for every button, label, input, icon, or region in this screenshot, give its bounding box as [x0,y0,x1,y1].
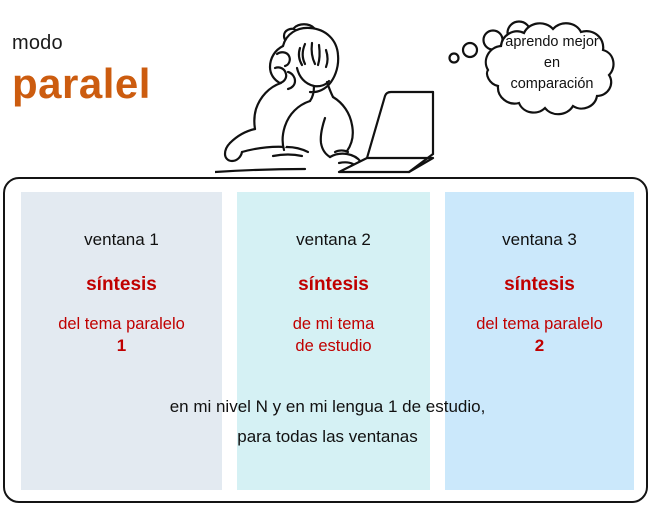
thought-bubble-line-2: en [472,53,632,74]
window-label-3: ventana 3 [445,230,634,250]
header-area: modo paralel [0,0,657,177]
synthesis-heading-3: síntesis [445,274,634,297]
windows-columns: ventana 1 síntesis del tema paralelo 1 v… [21,192,634,490]
window-label-1: ventana 1 [21,230,222,250]
synthesis-heading-1: síntesis [21,274,222,297]
synthesis-heading-2: síntesis [237,274,430,297]
parallel-mode-panel: ventana 1 síntesis del tema paralelo 1 v… [3,177,648,503]
person-studying-at-laptop-icon [215,6,435,181]
synthesis-desc-2-line-2: de estudio [237,335,430,357]
title-block: modo paralel [12,32,212,106]
thought-bubble-line-3: comparación [472,74,632,95]
synthesis-desc-3-line-1: del tema paralelo [445,313,634,335]
mode-name-label: paralel [12,62,212,106]
window-column-2[interactable]: ventana 2 síntesis de mi tema de estudio [237,192,430,490]
synthesis-desc-1-line-1: del tema paralelo [21,313,222,335]
mode-word-label: modo [12,32,212,54]
window-column-3[interactable]: ventana 3 síntesis del tema paralelo 2 [445,192,634,490]
synthesis-desc-2-line-1: de mi tema [237,313,430,335]
window-column-1[interactable]: ventana 1 síntesis del tema paralelo 1 [21,192,222,490]
window-label-2: ventana 2 [237,230,430,250]
thought-bubble-text: aprendo mejor en comparación [472,32,632,95]
synthesis-desc-3-line-2: 2 [445,335,634,358]
thought-bubble-line-1: aprendo mejor [472,32,632,53]
synthesis-desc-1-line-2: 1 [21,335,222,358]
